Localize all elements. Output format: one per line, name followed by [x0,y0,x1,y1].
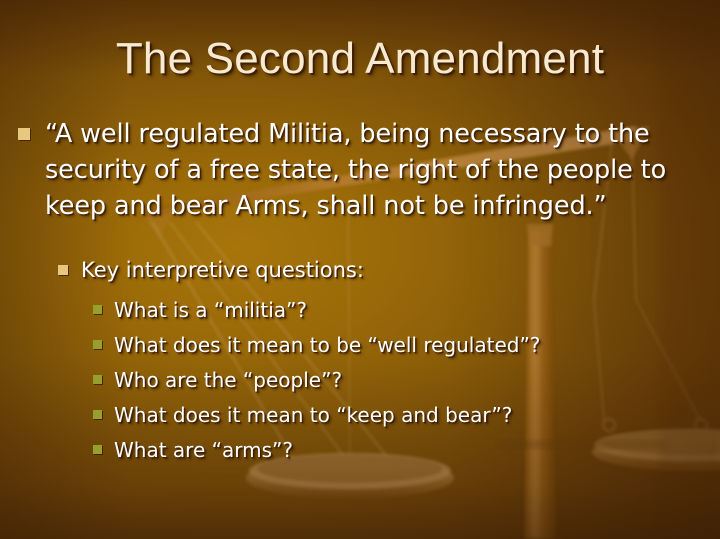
questions-list: What is a “militia”? What does it mean t… [93,296,540,471]
list-item: What is a “militia”? [93,296,540,331]
question-text: What is a “militia”? [114,296,307,324]
square-bullet-icon [58,265,68,275]
list-item: What does it mean to “keep and bear”? [93,401,540,436]
question-text: Who are the “people”? [114,366,342,394]
square-bullet-icon [93,375,102,384]
list-item: What are “arms”? [93,436,540,471]
question-text: What does it mean to be “well regulated”… [114,331,540,359]
square-bullet-icon [93,410,102,419]
question-text: What are “arms”? [114,436,293,464]
square-bullet-icon [93,305,102,314]
list-item: What does it mean to be “well regulated”… [93,331,540,366]
question-text: What does it mean to “keep and bear”? [114,401,512,429]
amendment-quote-text: “A well regulated Militia, being necessa… [45,116,688,224]
square-bullet-icon [18,128,30,140]
slide-content: The Second Amendment “A well regulated M… [0,0,720,539]
square-bullet-icon [93,445,102,454]
quote-bullet-row: “A well regulated Militia, being necessa… [18,116,688,224]
subheading-bullet-row: Key interpretive questions: [58,255,364,285]
square-bullet-icon [93,340,102,349]
list-item: Who are the “people”? [93,366,540,401]
slide-title: The Second Amendment [0,34,720,84]
presentation-slide: The Second Amendment “A well regulated M… [0,0,720,539]
subheading-text: Key interpretive questions: [81,255,364,285]
